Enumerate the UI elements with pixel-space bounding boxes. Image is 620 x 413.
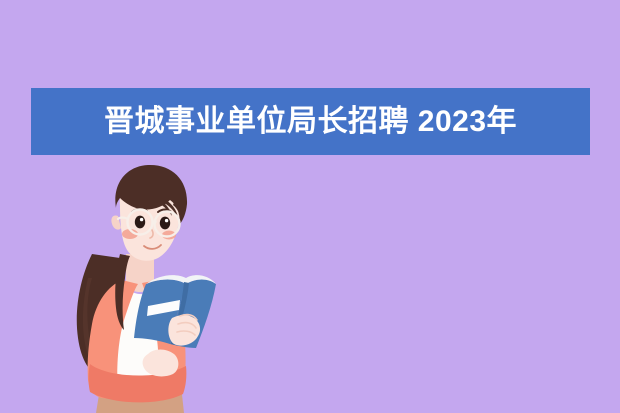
woman-reading-illustration bbox=[30, 158, 240, 413]
left-eye bbox=[135, 216, 145, 229]
right-eye bbox=[160, 217, 170, 230]
poster-canvas: 晋城事业单位局长招聘 2023年 bbox=[0, 0, 620, 413]
title-banner: 晋城事业单位局长招聘 2023年 bbox=[31, 88, 590, 155]
right-eye-highlight bbox=[165, 219, 168, 222]
page-title: 晋城事业单位局长招聘 2023年 bbox=[104, 107, 517, 137]
left-eye-highlight bbox=[140, 218, 143, 221]
woman-reading-icon bbox=[30, 158, 240, 413]
